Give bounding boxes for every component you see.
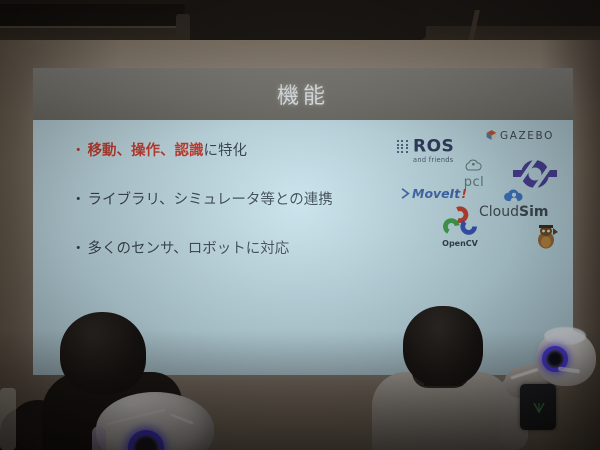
- bullet-marker: ・: [71, 144, 86, 160]
- robot-mascot-icon: [533, 222, 559, 250]
- ros-logo-subtitle: and friends: [413, 156, 454, 164]
- bullet-2-text: ライブラリ、シミュレータ等との連携: [88, 193, 333, 209]
- ros-dot-grid-icon: [397, 140, 411, 153]
- mascot-logo: [533, 222, 559, 254]
- slide-bullet-3: ・ 多くのセンサ、ロボットに対応: [71, 242, 371, 258]
- bullet-marker: ・: [71, 242, 86, 258]
- gazebo-box-icon: [485, 126, 498, 145]
- bullet-1-highlight: 移動、操作、認識: [88, 143, 204, 159]
- pepper-robot-right-head-highlight: [544, 327, 586, 345]
- cloudsim-word-light: Cloud: [479, 204, 519, 220]
- audience-person-left-head: [60, 312, 146, 394]
- pepper-robot-left-side-light: [92, 426, 106, 450]
- bullet-3-text: 多くのセンサ、ロボットに対応: [88, 242, 290, 258]
- slide-logo-cluster: ROS and friends GAZEBO: [393, 126, 571, 266]
- ceiling-rail: [420, 0, 600, 26]
- cloudsim-word-bold: Sim: [519, 204, 548, 220]
- audience-person-right-head: [403, 306, 483, 386]
- ceiling-vent: [0, 4, 185, 28]
- moveit-logo-bang: !: [461, 186, 467, 201]
- bullet-1-rest: に特化: [204, 143, 248, 159]
- moveit-logo-word: MoveIt: [412, 186, 460, 201]
- presentation-room-photo: 機能 ・ 移動、操作、認識に特化 ・ ライブラリ、シミュレータ等との連携 ・ 多…: [0, 0, 600, 450]
- moveit-arrow-icon: [401, 184, 411, 203]
- opencv-logo-word: OpenCV: [441, 239, 479, 248]
- ros-logo: ROS and friends: [397, 136, 454, 164]
- pepper-robot-right: [500, 330, 600, 450]
- ceiling-equipment-box: [186, 0, 426, 40]
- pepper-robot-right-tablet-icon: [532, 400, 546, 414]
- opencv-logo: OpenCV: [441, 206, 479, 248]
- pepper-robot-left: [96, 392, 216, 450]
- slide-bullet-2: ・ ライブラリ、シミュレータ等との連携: [71, 193, 371, 209]
- opencv-arcs-icon: [441, 206, 479, 236]
- ros-logo-word: ROS: [413, 137, 454, 157]
- slide-bullet-1: ・ 移動、操作、認識に特化: [71, 144, 371, 160]
- slide-bullet-list: ・ 移動、操作、認識に特化 ・ ライブラリ、シミュレータ等との連携 ・ 多くのセ…: [71, 144, 371, 291]
- cloudsim-logo-word: CloudSim: [479, 204, 548, 220]
- moveit-logo: MoveIt!: [401, 184, 467, 203]
- cloudsim-logo: CloudSim: [479, 188, 548, 220]
- bullet-marker: ・: [71, 193, 86, 209]
- gazebo-logo-word: GAZEBO: [500, 130, 554, 142]
- water-bottle: [0, 388, 16, 450]
- gazebo-logo: GAZEBO: [485, 126, 554, 145]
- slide-title: 機能: [33, 68, 573, 120]
